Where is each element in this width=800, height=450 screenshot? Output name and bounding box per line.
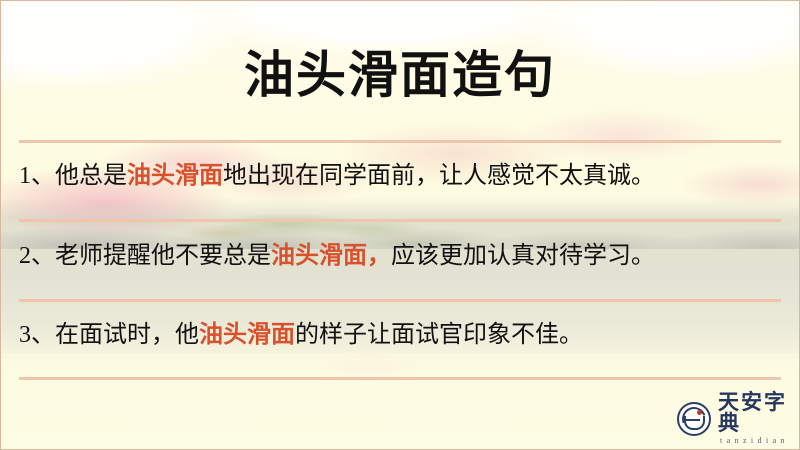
brand-logo: 天安字典 tanzidian	[677, 392, 799, 445]
sentence-3-before: 在面试时，他	[55, 322, 199, 348]
sentence-1-after: 地出现在同学面前，让人感觉不太真诚。	[223, 163, 655, 189]
example-sentence-2: 2、老师提醒他不要总是油头滑面，应该更加认真对待学习。	[19, 239, 785, 273]
brand-subtitle: tanzidian	[718, 437, 799, 445]
example-sentence-3: 3、在面试时，他油头滑面的样子让面试官印象不佳。	[19, 318, 785, 352]
sentence-2-index: 2、	[19, 243, 55, 269]
page-title: 油头滑面造句	[1, 45, 799, 105]
slide-canvas: 油头滑面造句 1、他总是油头滑面地出现在同学面前，让人感觉不太真诚。 2、老师提…	[0, 0, 800, 450]
brand-name: 天安字典	[718, 392, 799, 434]
sentence-2-after: 应该更加认真对待学习。	[391, 243, 655, 269]
emblem-bar	[685, 419, 700, 421]
sentence-3-highlight: 油头滑面	[199, 322, 295, 348]
example-sentence-1: 1、他总是油头滑面地出现在同学面前，让人感觉不太真诚。	[19, 159, 785, 193]
sentence-3-index: 3、	[19, 322, 55, 348]
sentence-2-highlight: 油头滑面，	[271, 243, 391, 269]
divider-line-3	[19, 299, 781, 302]
brand-emblem-icon	[677, 402, 711, 436]
divider-line-2	[19, 219, 781, 222]
sentence-3-after: 的样子让面试官印象不佳。	[295, 322, 583, 348]
sentence-1-index: 1、	[19, 163, 55, 189]
sentence-2-before: 老师提醒他不要总是	[55, 243, 271, 269]
sentence-1-before: 他总是	[55, 163, 127, 189]
sentence-1-highlight: 油头滑面	[127, 163, 223, 189]
divider-line-1	[19, 140, 781, 143]
emblem-dot	[697, 410, 702, 415]
slide-content: 油头滑面造句 1、他总是油头滑面地出现在同学面前，让人感觉不太真诚。 2、老师提…	[1, 1, 799, 449]
divider-line-4	[19, 377, 781, 380]
brand-text: 天安字典 tanzidian	[718, 392, 799, 445]
